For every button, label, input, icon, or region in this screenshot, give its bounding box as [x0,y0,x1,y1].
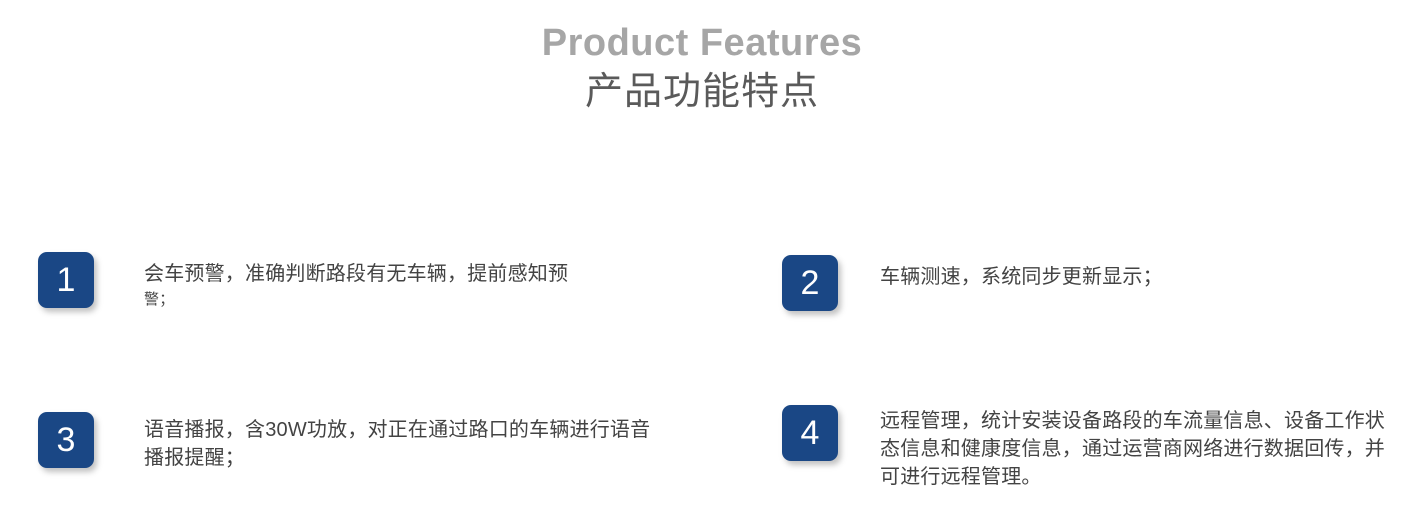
feature-description-2: 车辆测速，系统同步更新显示； [880,255,1392,291]
page-title-chinese: 产品功能特点 [0,66,1404,118]
feature-description-3: 语音播报，含30W功放，对正在通过路口的车辆进行语音播报提醒； [144,412,658,472]
feature-description-1: 会车预警，准确判断路段有无车辆，提前感知预 警； [144,252,658,312]
feature-number-badge-1: 1 [38,252,94,308]
feature-description-1-main: 会车预警，准确判断路段有无车辆，提前感知预 [144,263,568,285]
feature-item-3: 3 语音播报，含30W功放，对正在通过路口的车辆进行语音播报提醒； [38,412,658,472]
feature-description-1-tail: 警； [144,288,658,312]
feature-number-badge-4: 4 [782,405,838,461]
feature-number-badge-3: 3 [38,412,94,468]
feature-description-4: 远程管理，统计安装设备路段的车流量信息、设备工作状态信息和健康度信息，通过运营商… [880,405,1392,491]
feature-item-1: 1 会车预警，准确判断路段有无车辆，提前感知预 警； [38,252,658,312]
feature-item-4: 4 远程管理，统计安装设备路段的车流量信息、设备工作状态信息和健康度信息，通过运… [782,405,1392,491]
page-title-english: Product Features [0,20,1404,66]
feature-number-badge-2: 2 [782,255,838,311]
feature-list: 1 会车预警，准确判断路段有无车辆，提前感知预 警； 2 车辆测速，系统同步更新… [0,240,1404,525]
page-header: Product Features 产品功能特点 [0,20,1404,118]
feature-item-2: 2 车辆测速，系统同步更新显示； [782,255,1392,311]
